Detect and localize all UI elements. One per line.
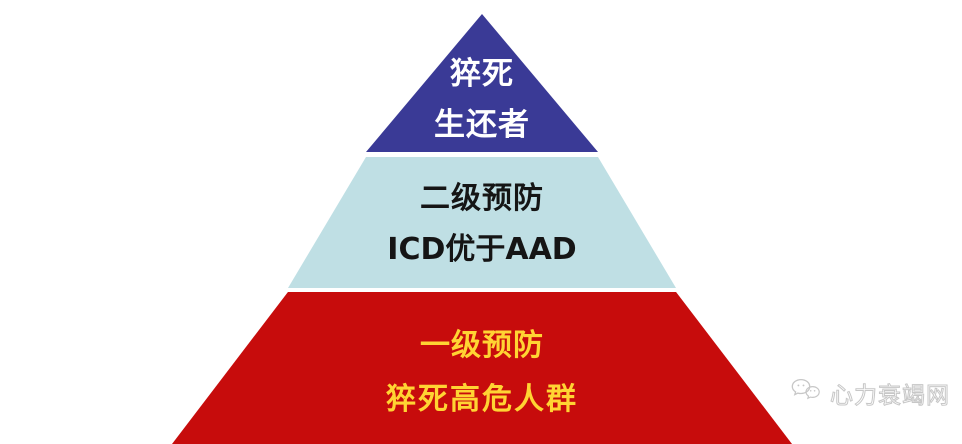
tier-top-line-1: 猝死 xyxy=(450,59,514,90)
tier-bottom-line-2: 猝死高危人群 xyxy=(386,385,578,415)
watermark-text: 心力衰竭网 xyxy=(830,376,950,410)
diagram-canvas: 猝死 生还者 二级预防 ICD优于AAD 一级预防 猝死高危人群 心力衰竭网 xyxy=(0,0,962,444)
tier-middle-line-1: 二级预防 xyxy=(420,184,544,214)
wechat-icon xyxy=(791,378,821,408)
pyramid-tier-middle: 二级预防 ICD优于AAD xyxy=(288,157,676,288)
tier-top-line-2: 生还者 xyxy=(434,110,530,141)
pyramid-tier-top: 猝死 生还者 xyxy=(366,14,598,152)
pyramid-tier-bottom: 一级预防 猝死高危人群 xyxy=(172,292,792,444)
watermark: 心力衰竭网 xyxy=(791,376,950,410)
tier-middle-line-2: ICD优于AAD xyxy=(387,235,576,265)
tier-bottom-line-1: 一级预防 xyxy=(420,331,544,361)
